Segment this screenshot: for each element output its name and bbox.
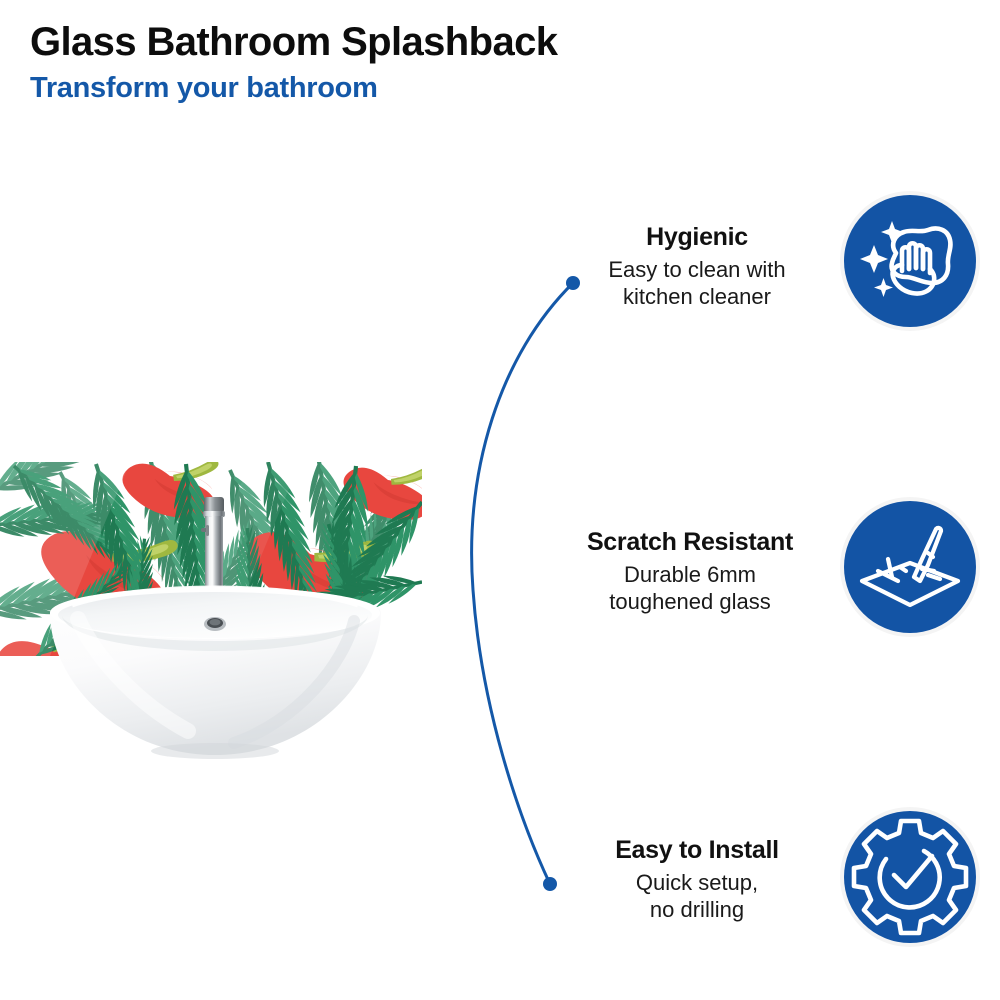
feature-hygienic-desc-line-2: kitchen cleaner xyxy=(552,283,842,310)
page-title: Glass Bathroom Splashback xyxy=(30,20,730,64)
feature-install-desc-line-2: no drilling xyxy=(552,896,842,923)
ceramic-basin xyxy=(48,585,383,765)
feature-scratch-resistant: Scratch Resistant Durable 6mm toughened … xyxy=(540,498,1000,668)
feature-install-title: Easy to Install xyxy=(552,836,842,865)
feature-scratch-title: Scratch Resistant xyxy=(540,528,840,557)
feature-scratch-description: Durable 6mm toughened glass xyxy=(540,561,840,616)
product-photo xyxy=(0,440,430,770)
feature-hygienic: Hygienic Easy to clean with kitchen clea… xyxy=(552,190,1000,360)
feature-hygienic-desc-line-1: Easy to clean with xyxy=(552,256,842,283)
infographic-page: Glass Bathroom Splashback Transform your… xyxy=(0,0,1000,1000)
feature-install-text: Easy to Install Quick setup, no drilling xyxy=(552,836,842,923)
feature-install-desc-line-1: Quick setup, xyxy=(552,869,842,896)
feature-hygienic-description: Easy to clean with kitchen cleaner xyxy=(552,256,842,311)
header: Glass Bathroom Splashback Transform your… xyxy=(30,20,730,105)
hand-wiping-sparkle-icon xyxy=(844,195,976,327)
knife-scratch-surface-icon xyxy=(844,501,976,633)
feature-install-description: Quick setup, no drilling xyxy=(552,869,842,924)
gear-checkmark-icon xyxy=(844,811,976,943)
feature-hygienic-title: Hygienic xyxy=(552,223,842,252)
feature-scratch-desc-line-1: Durable 6mm xyxy=(540,561,840,588)
feature-scratch-text: Scratch Resistant Durable 6mm toughened … xyxy=(540,528,840,615)
feature-hygienic-text: Hygienic Easy to clean with kitchen clea… xyxy=(552,223,842,310)
feature-scratch-desc-line-2: toughened glass xyxy=(540,588,840,615)
page-subtitle: Transform your bathroom xyxy=(30,73,730,105)
feature-easy-to-install: Easy to Install Quick setup, no drilling xyxy=(552,808,1000,978)
